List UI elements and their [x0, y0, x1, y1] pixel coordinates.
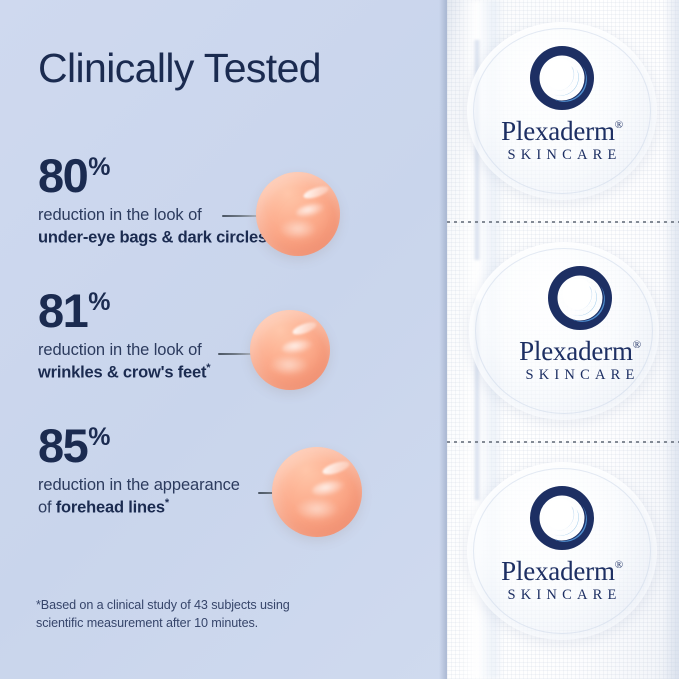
plexaderm-circle-mark-icon — [544, 262, 616, 334]
serum-droplet-icon — [256, 172, 340, 256]
brand-subtitle: SKINCARE — [467, 588, 657, 603]
stat-percent-sign: % — [88, 423, 110, 452]
stat-value-row: 81% — [38, 287, 210, 334]
brand-subtitle: SKINCARE — [467, 148, 657, 163]
stat-percent-sign: % — [88, 153, 110, 182]
droplet-sheen — [294, 497, 340, 521]
brand-wordmark: Plexaderm® — [519, 338, 641, 365]
registered-mark-icon: ® — [615, 559, 623, 571]
plexaderm-circle-mark-icon — [526, 42, 598, 114]
registered-mark-icon: ® — [615, 119, 623, 131]
registered-mark-icon: ® — [633, 339, 641, 351]
stat-description-line-1: reduction in the appearance — [38, 475, 240, 496]
brand-wordmark: Plexaderm® — [501, 118, 623, 145]
stat-percent-sign: % — [88, 288, 110, 317]
serum-droplet-icon — [272, 447, 362, 537]
perforation-line-icon — [447, 221, 679, 223]
stat-block-under-eye: 80% reduction in the look of under-eye b… — [38, 152, 271, 249]
stat-benefit-label: wrinkles & crow's feet — [38, 364, 206, 382]
claims-panel: Clinically Tested 80% reduction in the l… — [0, 0, 452, 679]
stat-value-row: 80% — [38, 152, 271, 199]
brand-name: Plexaderm — [501, 556, 615, 586]
stat-benefit-label: forehead lines — [56, 499, 165, 517]
brand-logo: Plexaderm® SKINCARE — [467, 482, 657, 603]
promo-graphic: Clinically Tested 80% reduction in the l… — [0, 0, 679, 679]
brand-subtitle: SKINCARE — [485, 368, 675, 383]
droplet-sheen — [278, 218, 318, 240]
plexaderm-circle-mark-icon — [526, 482, 598, 554]
stat-benefit-prefix: of — [38, 499, 56, 517]
brand-logo: Plexaderm® SKINCARE — [485, 262, 675, 383]
stat-description-line-2: wrinkles & crow's feet* — [38, 361, 210, 384]
brand-logo: Plexaderm® SKINCARE — [467, 42, 657, 163]
stat-description-line-1: reduction in the look of — [38, 340, 210, 361]
stat-block-forehead: 85% reduction in the appearance of foreh… — [38, 422, 240, 519]
stat-block-wrinkles: 81% reduction in the look of wrinkles & … — [38, 287, 210, 384]
product-sachet-strip: Plexaderm® SKINCARE Plexaderm® SKINCARE — [447, 0, 679, 679]
footnote-marker: * — [165, 497, 169, 509]
brand-name: Plexaderm — [501, 116, 615, 146]
footnote-marker: * — [206, 362, 210, 374]
brand-name: Plexaderm — [519, 336, 633, 366]
perforation-line-icon — [447, 441, 679, 443]
stat-value-row: 85% — [38, 422, 240, 469]
stat-description-line-2: under-eye bags & dark circles* — [38, 226, 271, 249]
stat-benefit-label: under-eye bags & dark circles — [38, 229, 267, 247]
brand-wordmark: Plexaderm® — [501, 558, 623, 585]
serum-droplet-icon — [250, 310, 330, 390]
droplet-sheen — [268, 354, 310, 376]
footnote-text: *Based on a clinical study of 43 subject… — [36, 597, 336, 633]
stat-number: 85 — [38, 422, 87, 469]
stat-description-line-2: of forehead lines* — [38, 496, 240, 519]
stat-number: 80 — [38, 152, 87, 199]
page-title: Clinically Tested — [38, 48, 321, 89]
stat-number: 81 — [38, 287, 87, 334]
